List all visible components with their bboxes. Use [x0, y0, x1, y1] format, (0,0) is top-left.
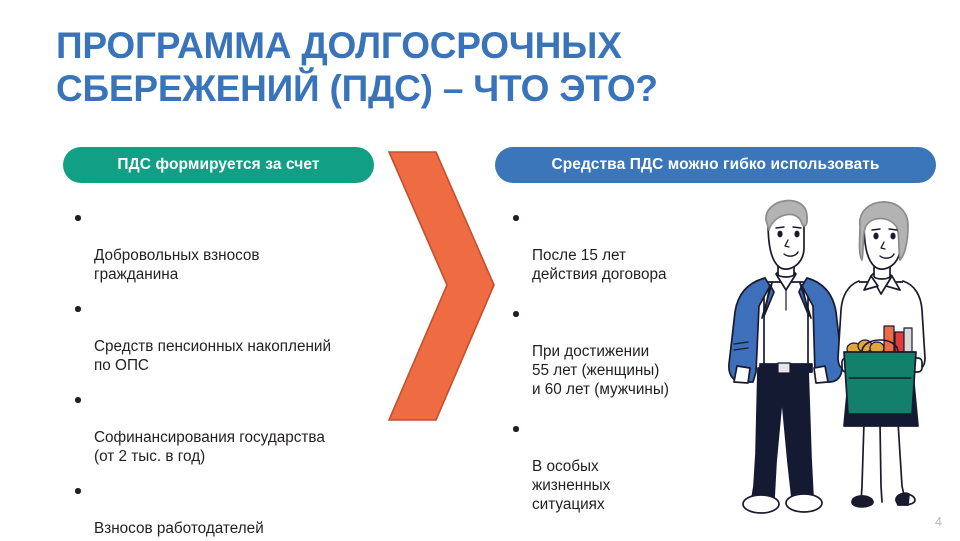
list-item: Добровольных взносов гражданина [70, 208, 390, 284]
badge-right-label: Средства ПДС можно гибко использовать [551, 156, 879, 174]
bullet-dot-icon [513, 311, 519, 317]
list-item: После 15 лет действия договора [508, 208, 723, 284]
elderly-couple-illustration [712, 186, 952, 536]
page-number: 4 [935, 515, 942, 529]
badge-pds-sources: ПДС формируется за счет [63, 147, 374, 183]
badge-left-label: ПДС формируется за счет [117, 156, 319, 174]
bullet-dot-icon [75, 215, 81, 221]
left-bullet-list: Добровольных взносов гражданина Средств … [70, 208, 390, 541]
chevron-right-arrow-icon [384, 150, 496, 422]
list-item: При достижении 55 лет (женщины) и 60 лет… [508, 304, 723, 399]
list-item-label: После 15 лет действия договора [532, 247, 667, 283]
list-item-label: Добровольных взносов гражданина [94, 247, 260, 283]
list-item: Софинансирования государства (от 2 тыс. … [70, 390, 390, 466]
list-item-label: В особых жизненных ситуациях [532, 458, 610, 513]
right-bullet-list: После 15 лет действия договора При дости… [508, 208, 723, 534]
bullet-dot-icon [75, 397, 81, 403]
list-item-label: Средств пенсионных накоплений по ОПС [94, 338, 331, 374]
list-item-label: При достижении 55 лет (женщины) и 60 лет… [532, 343, 669, 398]
list-item-label: Взносов работодателей [94, 520, 264, 537]
page-title: Программа долгосрочных сбережений (ПДС) … [56, 24, 776, 110]
badge-pds-usage: Средства ПДС можно гибко использовать [495, 147, 936, 183]
list-item: В особых жизненных ситуациях [508, 419, 723, 514]
bullet-dot-icon [75, 306, 81, 312]
bullet-dot-icon [513, 215, 519, 221]
list-item-label: Софинансирования государства (от 2 тыс. … [94, 429, 325, 465]
list-item: Средств пенсионных накоплений по ОПС [70, 299, 390, 375]
bullet-dot-icon [513, 426, 519, 432]
bullet-dot-icon [75, 488, 81, 494]
slide-canvas: Программа долгосрочных сбережений (ПДС) … [0, 0, 960, 541]
list-item: Взносов работодателей [70, 481, 390, 538]
